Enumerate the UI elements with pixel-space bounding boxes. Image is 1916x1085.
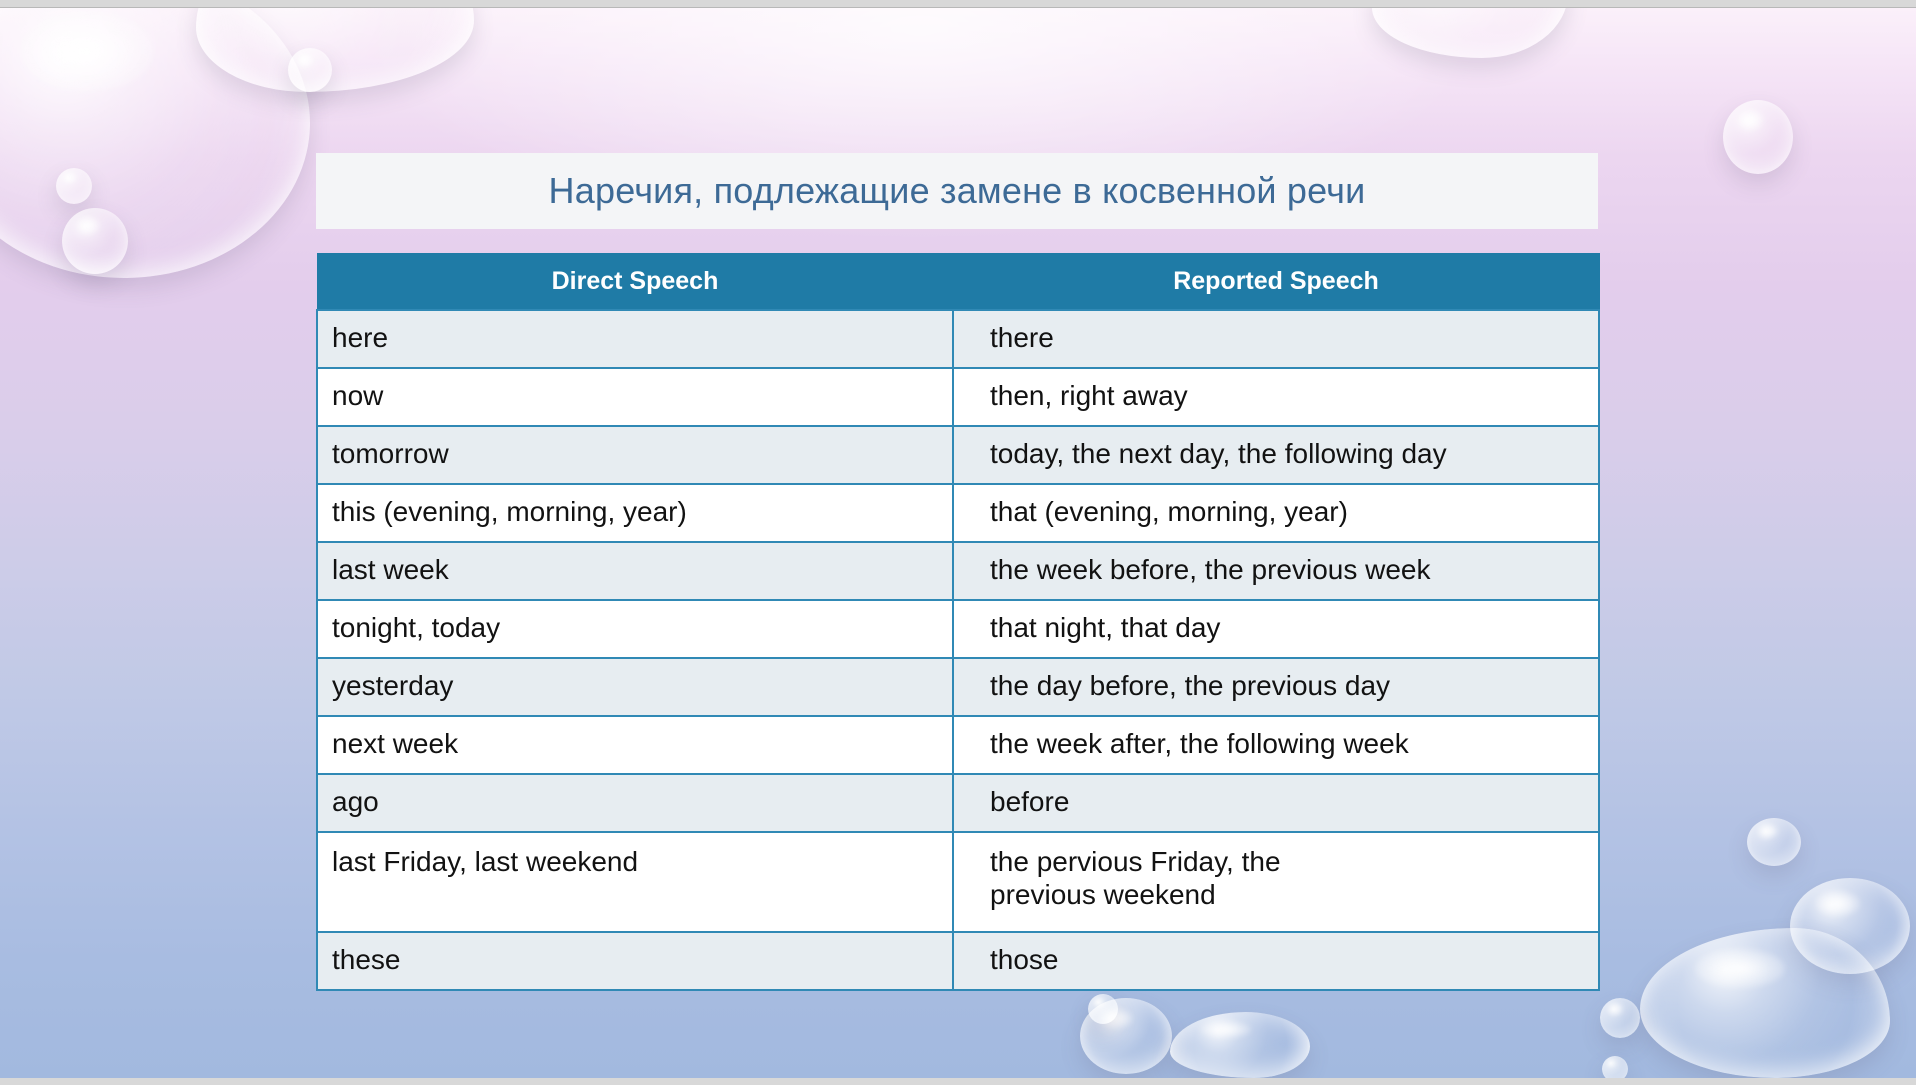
bubble-small-1-icon bbox=[288, 48, 332, 92]
cell-reported: then, right away bbox=[953, 368, 1599, 426]
cell-reported: the pervious Friday, the previous weeken… bbox=[953, 832, 1599, 932]
top-edge-strip bbox=[0, 0, 1916, 8]
cell-direct: tonight, today bbox=[317, 600, 953, 658]
table-body: here there now then, right away tomorrow… bbox=[317, 310, 1599, 990]
droplet-bottom-tiny-icon bbox=[1602, 1056, 1628, 1078]
bubble-top-right-wide-icon bbox=[1372, 8, 1568, 58]
cell-direct: last Friday, last weekend bbox=[317, 832, 953, 932]
cell-reported: the day before, the previous day bbox=[953, 658, 1599, 716]
table-row: tonight, today that night, that day bbox=[317, 600, 1599, 658]
table-row: ago before bbox=[317, 774, 1599, 832]
droplet-bottom-right-small-icon bbox=[1747, 818, 1801, 866]
droplet-bottom-center-2-icon bbox=[1170, 1012, 1310, 1078]
table-header-row: Direct Speech Reported Speech bbox=[317, 254, 1599, 310]
table-row: next week the week after, the following … bbox=[317, 716, 1599, 774]
table-row: now then, right away bbox=[317, 368, 1599, 426]
table-row: last Friday, last weekend the pervious F… bbox=[317, 832, 1599, 932]
bottom-edge-strip bbox=[0, 1078, 1916, 1085]
cell-reported: that (evening, morning, year) bbox=[953, 484, 1599, 542]
droplet-bottom-center-small-icon bbox=[1088, 994, 1118, 1024]
cell-reported: that night, that day bbox=[953, 600, 1599, 658]
bubble-top-left-2-icon bbox=[196, 8, 474, 92]
adverb-mapping-table: Direct Speech Reported Speech here there… bbox=[316, 253, 1600, 991]
table-row: here there bbox=[317, 310, 1599, 368]
cell-direct: last week bbox=[317, 542, 953, 600]
bubble-small-2-icon bbox=[56, 168, 92, 204]
cell-reported: the week before, the previous week bbox=[953, 542, 1599, 600]
cell-reported: there bbox=[953, 310, 1599, 368]
table-row: tomorrow today, the next day, the follow… bbox=[317, 426, 1599, 484]
cell-reported: those bbox=[953, 932, 1599, 990]
table-header: Direct Speech Reported Speech bbox=[317, 254, 1599, 310]
speech-conversion-table: Direct Speech Reported Speech here there… bbox=[316, 253, 1598, 991]
page-title: Наречия, подлежащие замене в косвенной р… bbox=[549, 170, 1366, 212]
cell-reported: before bbox=[953, 774, 1599, 832]
cell-direct: tomorrow bbox=[317, 426, 953, 484]
droplet-bottom-left-small-icon bbox=[1600, 998, 1640, 1038]
column-header-direct-speech: Direct Speech bbox=[317, 254, 953, 310]
cell-direct: ago bbox=[317, 774, 953, 832]
presentation-slide: Наречия, подлежащие замене в косвенной р… bbox=[0, 8, 1916, 1078]
table-row: last week the week before, the previous … bbox=[317, 542, 1599, 600]
bubble-small-3-icon bbox=[62, 208, 128, 274]
cell-reported: the week after, the following week bbox=[953, 716, 1599, 774]
droplet-bottom-center-1-icon bbox=[1080, 998, 1172, 1074]
bubble-large-top-left-icon bbox=[0, 8, 310, 278]
cell-reported: today, the next day, the following day bbox=[953, 426, 1599, 484]
cell-direct: next week bbox=[317, 716, 953, 774]
cell-direct: yesterday bbox=[317, 658, 953, 716]
bubble-top-right-small-icon bbox=[1723, 100, 1793, 174]
cell-direct: this (evening, morning, year) bbox=[317, 484, 953, 542]
table-row: these those bbox=[317, 932, 1599, 990]
column-header-reported-speech: Reported Speech bbox=[953, 254, 1599, 310]
table-row: this (evening, morning, year) that (even… bbox=[317, 484, 1599, 542]
cell-direct: now bbox=[317, 368, 953, 426]
droplet-bottom-right-large-icon bbox=[1640, 928, 1890, 1078]
cell-direct: these bbox=[317, 932, 953, 990]
slide-title-band: Наречия, подлежащие замене в косвенной р… bbox=[316, 153, 1598, 229]
droplet-bottom-right-oval-icon bbox=[1790, 878, 1910, 974]
table-row: yesterday the day before, the previous d… bbox=[317, 658, 1599, 716]
cell-direct: here bbox=[317, 310, 953, 368]
